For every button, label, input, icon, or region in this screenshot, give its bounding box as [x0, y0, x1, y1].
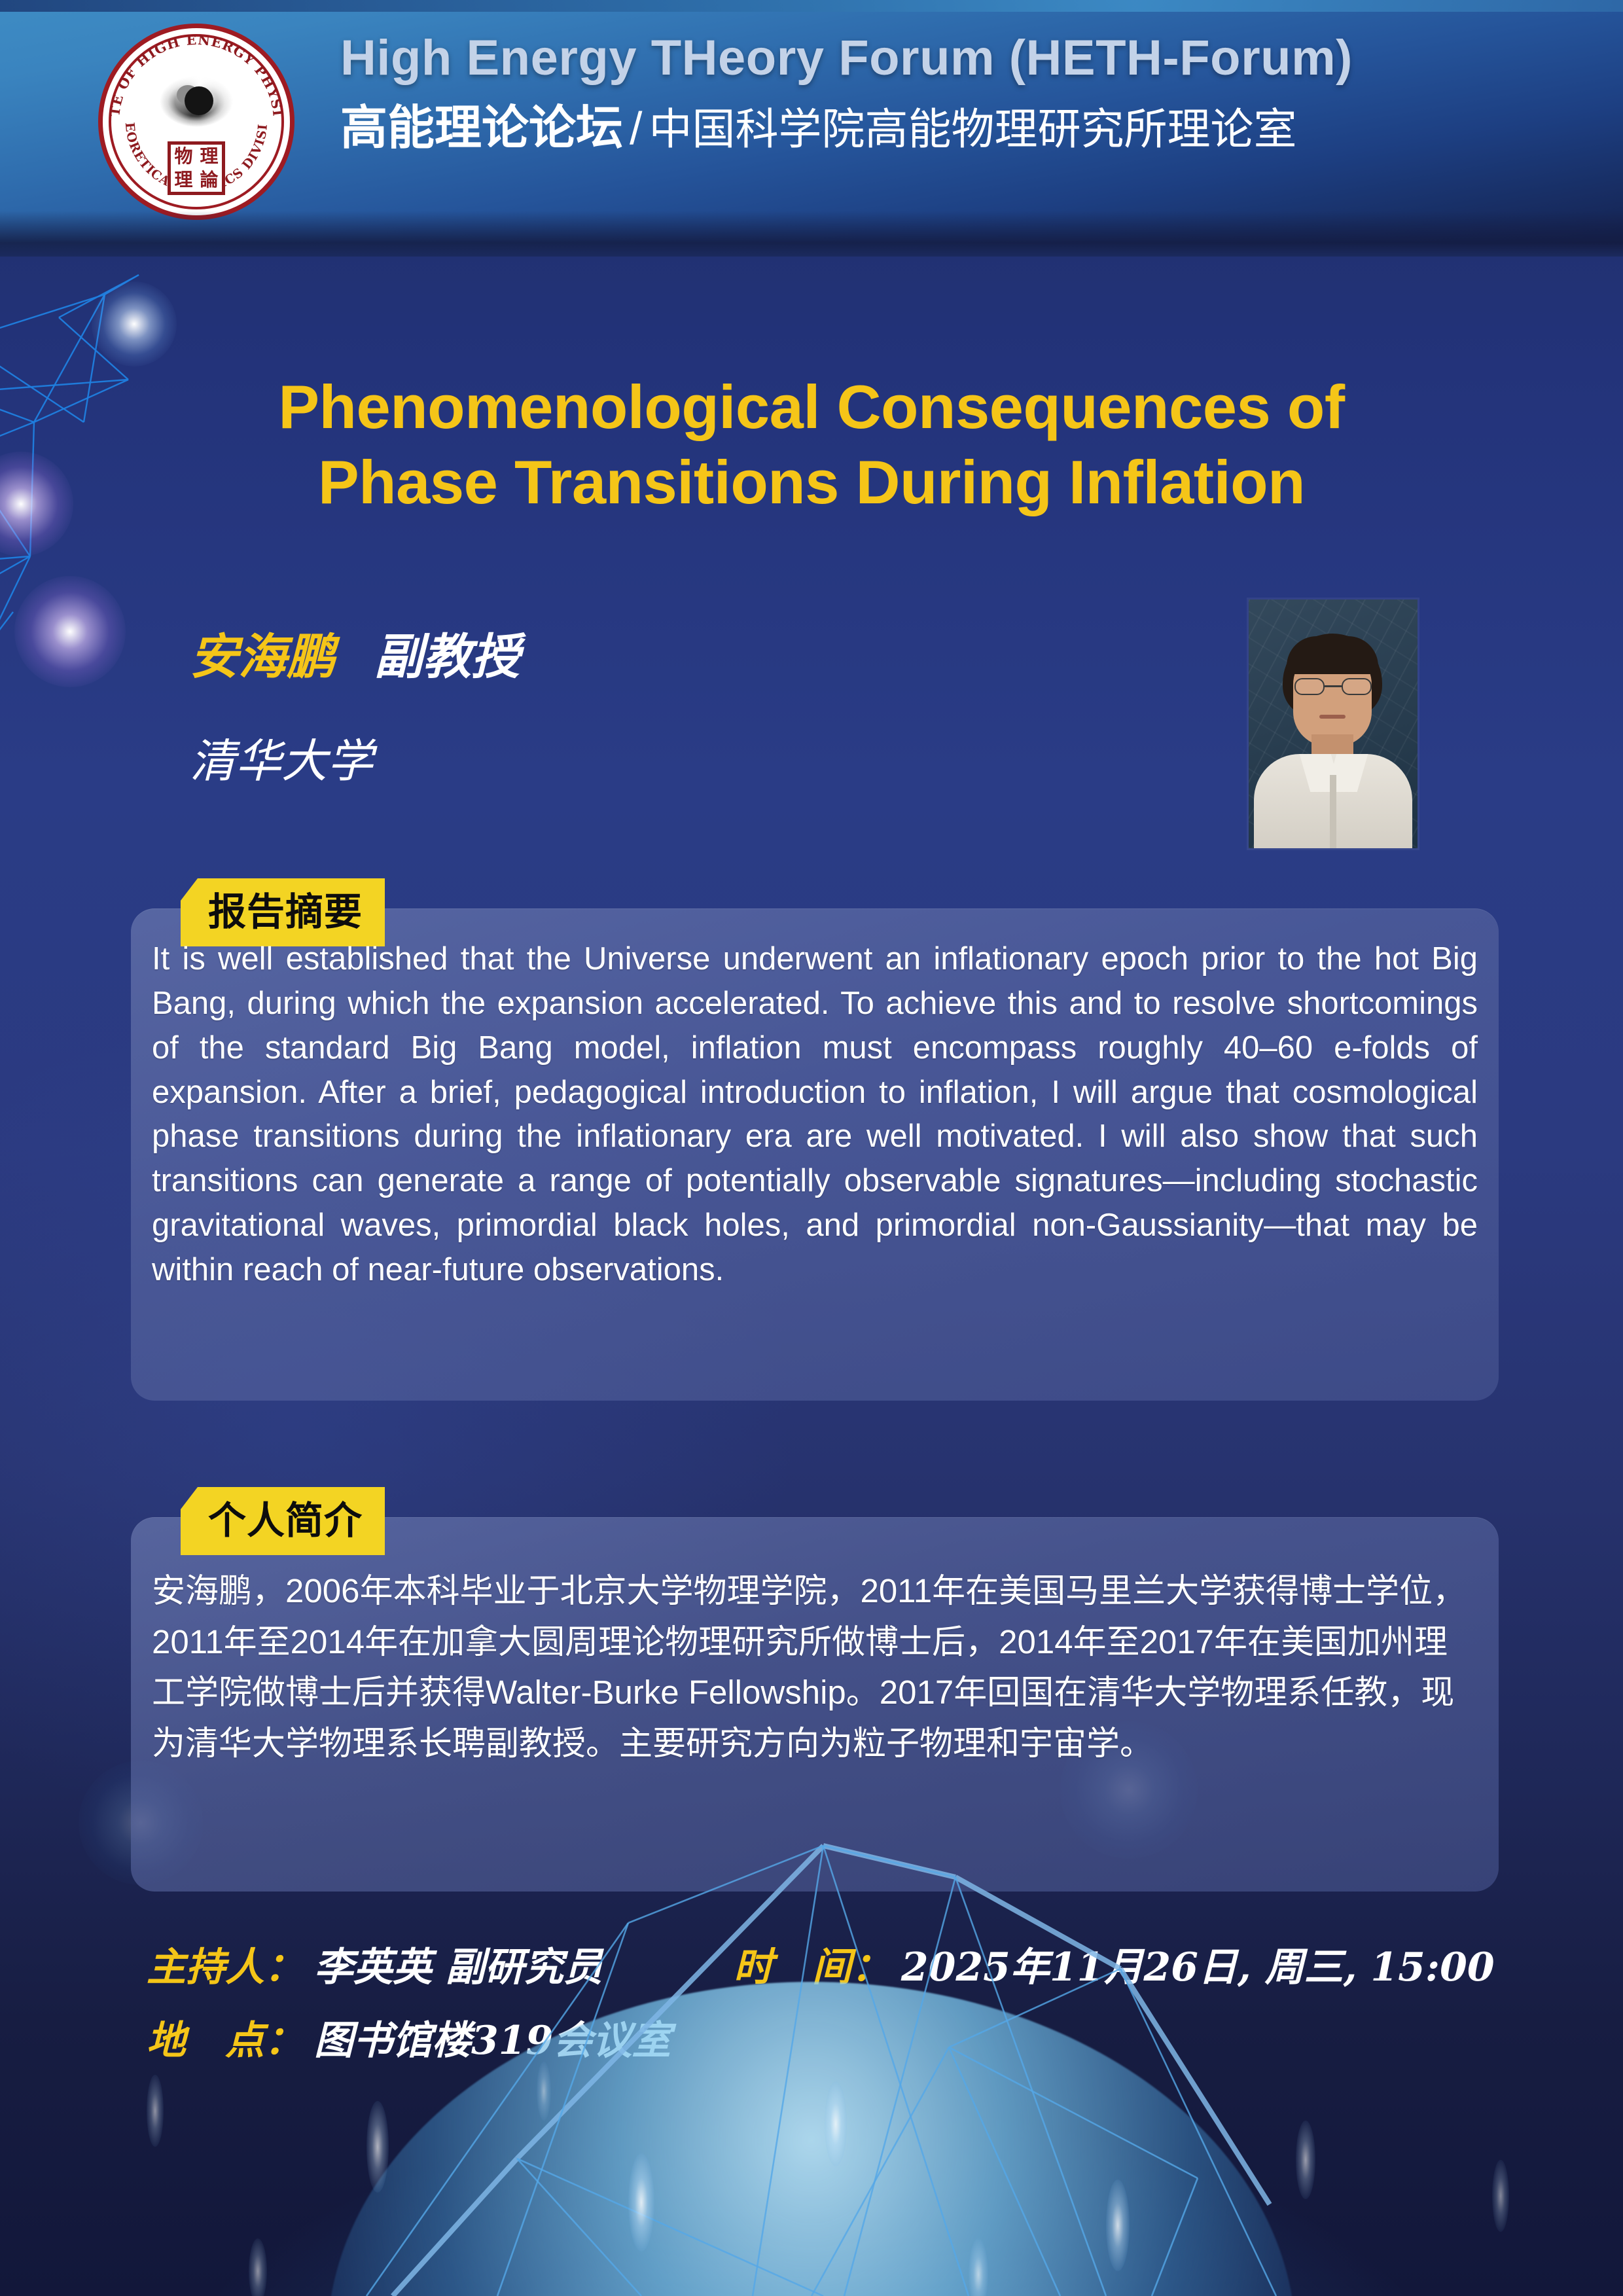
header-text-block: High Energy THeory Forum (HETH-Forum) 高能…: [340, 30, 1518, 156]
speaker-block: 安海鹏副教授 清华大学: [190, 628, 1106, 791]
speaker-name: 安海鹏: [190, 629, 335, 685]
seal-char-3: 理: [171, 168, 196, 192]
speaker-rank: 副教授: [374, 629, 520, 685]
place-label: 地 点：: [147, 2011, 304, 2072]
seal-char-1: 物: [171, 145, 196, 168]
seal-char-2: 理: [196, 145, 222, 168]
light-streak-1: [147, 2075, 164, 2147]
talk-title-line1: Phenomenological Consequences of: [278, 372, 1344, 441]
light-streak-8: [249, 2238, 267, 2296]
time-value: 2025年11月26日, 周三, 15:00: [901, 1937, 1495, 1998]
header-top-strip: [0, 0, 1623, 12]
glow-node-1: [92, 281, 177, 367]
bio-section-tag: 个人简介: [181, 1487, 385, 1555]
portrait-mouth: [1319, 715, 1346, 719]
poster-header: INSTITUTE OF HIGH ENERGY PHYSICS · CAS T…: [0, 0, 1623, 257]
portrait-fringe: [1287, 636, 1378, 674]
forum-name-cn-slash: /: [630, 103, 642, 154]
talk-title: Phenomenological Consequences of Phase T…: [157, 370, 1466, 520]
glow-node-3: [14, 576, 126, 687]
light-streak-6: [1296, 2121, 1315, 2199]
seal-char-4: 論: [196, 168, 222, 192]
talk-title-line2: Phase Transitions During Inflation: [157, 445, 1466, 520]
light-streak-7: [1492, 2160, 1509, 2232]
glow-node-2: [0, 452, 73, 556]
speaker-affiliation: 清华大学: [190, 725, 1106, 791]
forum-name-cn-tail: 中国科学院高能物理研究所理论室: [649, 105, 1296, 153]
portrait-placket: [1330, 775, 1336, 848]
speaker-name-row: 安海鹏副教授: [190, 628, 1106, 687]
forum-name-en: High Energy THeory Forum (HETH-Forum): [340, 30, 1518, 86]
abstract-section-tag: 报告摘要: [181, 878, 385, 946]
logo-seal: 物 理 理 論: [168, 141, 225, 195]
seminar-poster: INSTITUTE OF HIGH ENERGY PHYSICS · CAS T…: [0, 0, 1623, 2296]
galaxy-yinyang-icon: [153, 72, 240, 132]
speaker-photo: [1249, 600, 1418, 848]
glasses-icon: [1294, 678, 1372, 695]
forum-name-cn-lead: 高能理论论坛: [340, 102, 623, 154]
ihep-logo: INSTITUTE OF HIGH ENERGY PHYSICS · CAS T…: [98, 24, 294, 220]
abstract-text: It is well established that the Universe…: [152, 937, 1478, 1293]
forum-name-cn: 高能理论论坛/中国科学院高能物理研究所理论室: [340, 101, 1518, 156]
host-label: 主持人：: [147, 1937, 304, 1998]
host-value: 李英英 副研究员: [314, 1937, 603, 1998]
bio-text: 安海鹏，2006年本科毕业于北京大学物理学院，2011年在美国马里兰大学获得博士…: [152, 1566, 1478, 1768]
